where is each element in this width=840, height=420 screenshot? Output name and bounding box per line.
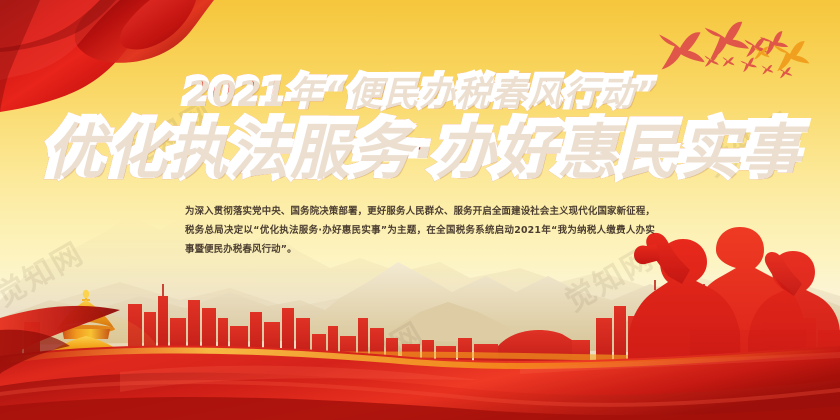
poster-canvas: 觉知网 觉知网 觉知网 觉知网 觉知网 2021年“便民办税春风行动” 优化执法… — [0, 0, 840, 420]
red-ribbon-waves-bottom — [0, 0, 840, 420]
